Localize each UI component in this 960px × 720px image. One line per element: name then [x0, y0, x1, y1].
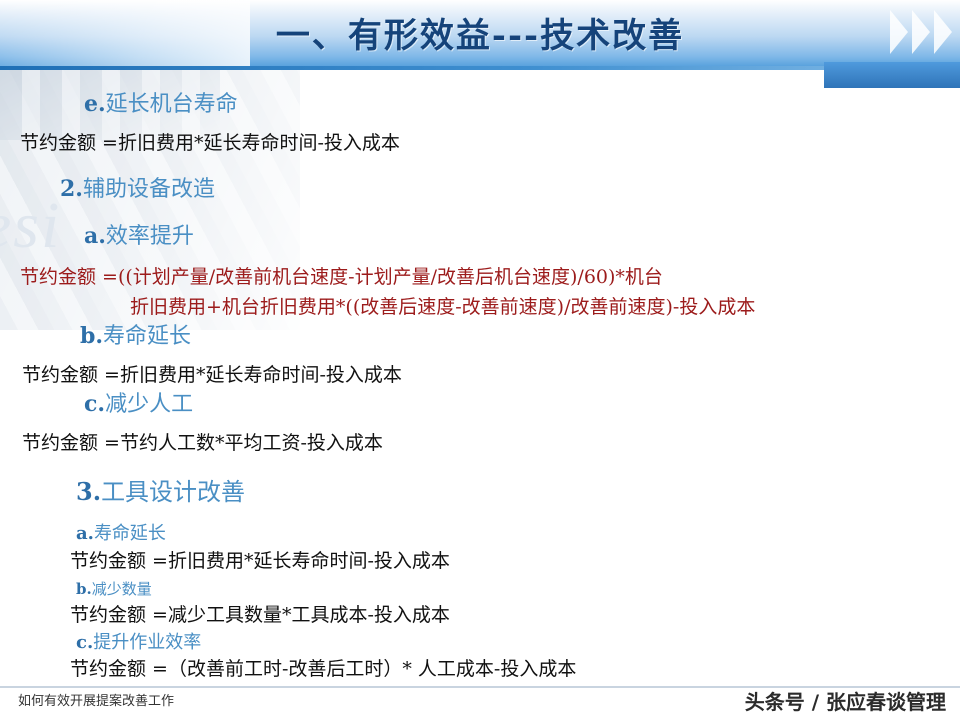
- heading-label: 减少人工: [105, 392, 193, 417]
- heading-marker: 2.: [60, 176, 83, 202]
- heading-marker: c.: [84, 391, 105, 417]
- formula-line: 节约金额 =折旧费用*延长寿命时间-投入成本: [70, 546, 450, 573]
- heading-label: 辅助设备改造: [83, 177, 215, 202]
- heading-marker: b.: [80, 323, 103, 349]
- formula-line: 节约金额 =((计划产量/改善前机台速度-计划产量/改善后机台速度)/60)*机…: [20, 262, 663, 289]
- formula-line: 节约金额 =折旧费用*延长寿命时间-投入成本: [20, 128, 400, 155]
- section-heading: 2.辅助设备改造: [60, 171, 215, 203]
- heading-marker: c.: [76, 632, 93, 653]
- heading-marker: e.: [84, 91, 106, 117]
- heading-marker: a.: [76, 523, 94, 544]
- heading-label: 提升作业效率: [93, 632, 201, 653]
- formula-line: 节约金额 =节约人工数*平均工资-投入成本: [22, 428, 383, 455]
- section-heading: b.减少数量: [76, 578, 152, 599]
- formula-line: 节约金额 =折旧费用*延长寿命时间-投入成本: [22, 360, 402, 387]
- heading-label: 工具设计改善: [101, 478, 245, 506]
- heading-label: 减少数量: [92, 580, 152, 598]
- formula-line: 节约金额 =（改善前工时-改善后工时）* 人工成本-投入成本: [70, 654, 576, 681]
- section-heading: b.寿命延长: [80, 318, 191, 350]
- page-title: 一、有形效益---技术改善: [0, 8, 960, 57]
- slide-body: e.延长机台寿命节约金额 =折旧费用*延长寿命时间-投入成本2.辅助设备改造a.…: [0, 66, 960, 678]
- section-heading: c.减少人工: [84, 386, 193, 418]
- heading-label: 寿命延长: [103, 324, 191, 349]
- section-heading: a.寿命延长: [76, 519, 166, 545]
- footer-left-text: 如何有效开展提案改善工作: [18, 690, 174, 709]
- heading-marker: a.: [84, 223, 106, 249]
- section-heading: c.提升作业效率: [76, 628, 201, 654]
- heading-label: 寿命延长: [94, 523, 166, 544]
- section-heading: a.效率提升: [84, 218, 194, 250]
- heading-marker: b.: [76, 580, 92, 598]
- section-heading: 3.工具设计改善: [76, 472, 245, 507]
- footer-right-credit: 头条号 / 张应春谈管理: [745, 686, 946, 715]
- heading-marker: 3.: [76, 477, 101, 506]
- section-heading: e.延长机台寿命: [84, 86, 238, 118]
- formula-line: 折旧费用+机台折旧费用*((改善后速度-改善前速度)/改善前速度)-投入成本: [130, 292, 755, 319]
- slide: esi 一、有形效益---技术改善 e.延长机台寿命节约金额 =折旧费用*延长寿…: [0, 0, 960, 720]
- heading-label: 延长机台寿命: [106, 92, 238, 117]
- formula-line: 节约金额 =减少工具数量*工具成本-投入成本: [70, 600, 450, 627]
- heading-label: 效率提升: [106, 224, 194, 249]
